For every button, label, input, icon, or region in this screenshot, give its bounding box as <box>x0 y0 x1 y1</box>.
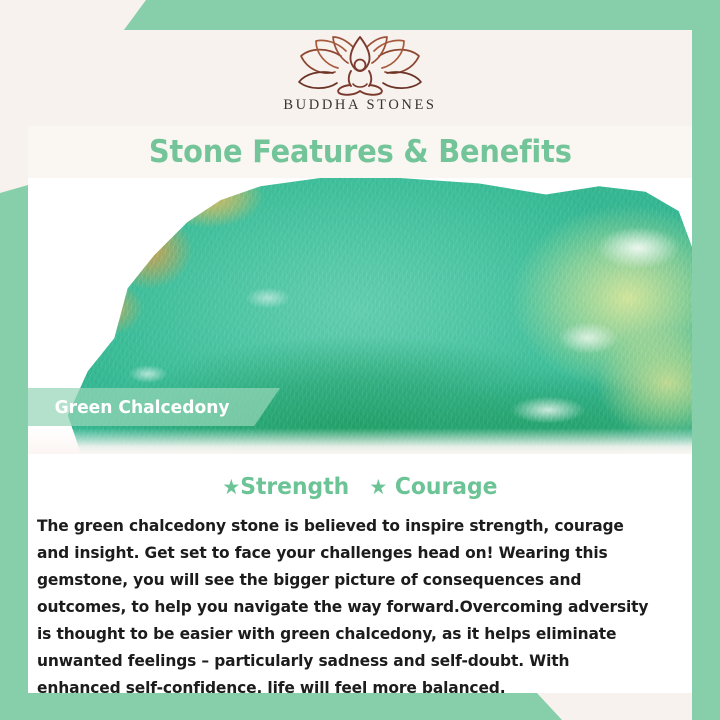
brand-name: BUDDHA STONES <box>283 97 436 114</box>
page-title: Stone Features & Benefits <box>149 134 572 170</box>
product-info-poster: BUDDHA STONES Stone Features & Benefits … <box>0 0 720 720</box>
star-icon: ★ <box>370 475 388 499</box>
star-icon: ★ <box>222 475 240 499</box>
keyword-courage-label: Courage <box>395 474 498 500</box>
benefits-section: ★Strength ★ Courage The green chalcedony… <box>28 454 692 693</box>
frame-accent-left <box>0 185 28 693</box>
lotus-meditation-icon <box>285 34 435 96</box>
stone-photo: Green Chalcedony <box>28 178 692 454</box>
benefits-description: The green chalcedony stone is believed t… <box>37 512 657 693</box>
keyword-courage: ★ Courage <box>370 474 498 500</box>
keyword-strength-label: Strength <box>240 474 349 500</box>
keyword-strength: ★Strength <box>222 474 349 500</box>
stone-name-label: Green Chalcedony <box>55 397 230 418</box>
frame-accent-bottom <box>0 692 720 720</box>
frame-accent-right <box>692 0 720 720</box>
content-card: BUDDHA STONES Stone Features & Benefits … <box>28 30 692 693</box>
stone-name-tag: Green Chalcedony <box>28 388 280 426</box>
brand-header: BUDDHA STONES <box>28 30 692 126</box>
section-title-banner: Stone Features & Benefits <box>28 126 692 178</box>
keyword-row: ★Strength ★ Courage <box>28 454 692 504</box>
